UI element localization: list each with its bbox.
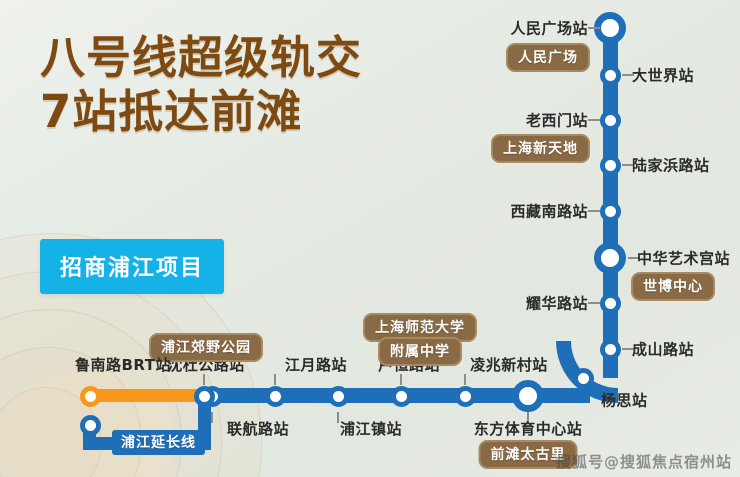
- station-label-chengshan-lu: 成山路站: [632, 339, 694, 360]
- station-tick: [274, 374, 276, 385]
- station-laoximen[interactable]: [600, 110, 621, 131]
- station-label-pujiangzhen: 浦江镇站: [340, 418, 402, 439]
- station-label-laoximen: 老西门站: [526, 110, 588, 131]
- brt-spur-segment: [88, 389, 206, 402]
- station-xizang-nanlu[interactable]: [600, 201, 621, 222]
- station-tick: [588, 210, 600, 212]
- station-shendu-gonglu[interactable]: [194, 386, 215, 407]
- station-yaohua-lu[interactable]: [600, 293, 621, 314]
- station-tick: [464, 374, 466, 385]
- station-tick: [588, 27, 600, 29]
- station-tick: [203, 374, 205, 385]
- station-tick: [588, 119, 600, 121]
- station-label-yangsi: 杨思站: [601, 390, 648, 411]
- station-label-xizang-nanlu: 西藏南路站: [510, 201, 588, 222]
- station-tick: [400, 374, 402, 385]
- headline-line-2: 7站抵达前滩: [40, 88, 362, 136]
- station-tick: [211, 412, 213, 423]
- headline-line-1: 八号线超级轨交: [40, 34, 362, 82]
- headline-block: 八号线超级轨交 7站抵达前滩: [40, 34, 362, 135]
- transit-map-infographic: 八号线超级轨交 7站抵达前滩 招商浦江项目 人民广场站 人民广场 大世界站 老西…: [0, 0, 740, 477]
- station-label-renmin-guangchang: 人民广场站: [510, 18, 588, 39]
- poi-badge-shishida-line-2: 附属中学: [378, 337, 462, 366]
- station-tick: [588, 302, 600, 304]
- poi-badge-xintiandi: 上海新天地: [491, 134, 590, 163]
- station-lujiabang-lu[interactable]: [600, 155, 621, 176]
- station-label-lingzhao-xincun: 凌兆新村站: [470, 354, 548, 375]
- station-label-zhonghua-yishugong: 中华艺术宫站: [637, 248, 730, 269]
- station-label-jiangyue-lu: 江月路站: [285, 354, 347, 375]
- project-badge[interactable]: 招商浦江项目: [40, 239, 224, 294]
- station-label-dashijie: 大世界站: [632, 65, 694, 86]
- station-extension-terminus[interactable]: [80, 415, 101, 436]
- station-label-yaohua-lu: 耀华路站: [526, 293, 588, 314]
- poi-badge-renmin-guangchang: 人民广场: [506, 43, 590, 72]
- station-label-dongfang-tiyu-zhongxin: 东方体育中心站: [474, 418, 583, 439]
- station-luheng-lu[interactable]: [391, 386, 412, 407]
- station-jiangyue-lu[interactable]: [265, 386, 286, 407]
- station-yangsi[interactable]: [573, 368, 594, 389]
- station-tick: [337, 412, 339, 423]
- station-label-lunan-lu-brt: 鲁南路BRT站: [75, 354, 171, 375]
- station-lingzhao-xincun[interactable]: [455, 386, 476, 407]
- station-lunan-lu-brt[interactable]: [80, 386, 101, 407]
- poi-badge-shibo-zhongxin: 世博中心: [631, 272, 715, 301]
- station-pujiangzhen[interactable]: [328, 386, 349, 407]
- station-chengshan-lu[interactable]: [600, 339, 621, 360]
- station-label-lujiabang-lu: 陆家浜路站: [632, 155, 710, 176]
- station-dashijie[interactable]: [600, 65, 621, 86]
- station-zhonghua-yishugong[interactable]: [594, 242, 626, 274]
- extension-line-label: 浦江延长线: [112, 430, 205, 455]
- station-label-lianhang-lu: 联航路站: [227, 418, 289, 439]
- watermark: 搜狐号@搜狐焦点宿州站: [556, 451, 732, 472]
- station-dongfang-tiyu-zhongxin[interactable]: [512, 380, 544, 412]
